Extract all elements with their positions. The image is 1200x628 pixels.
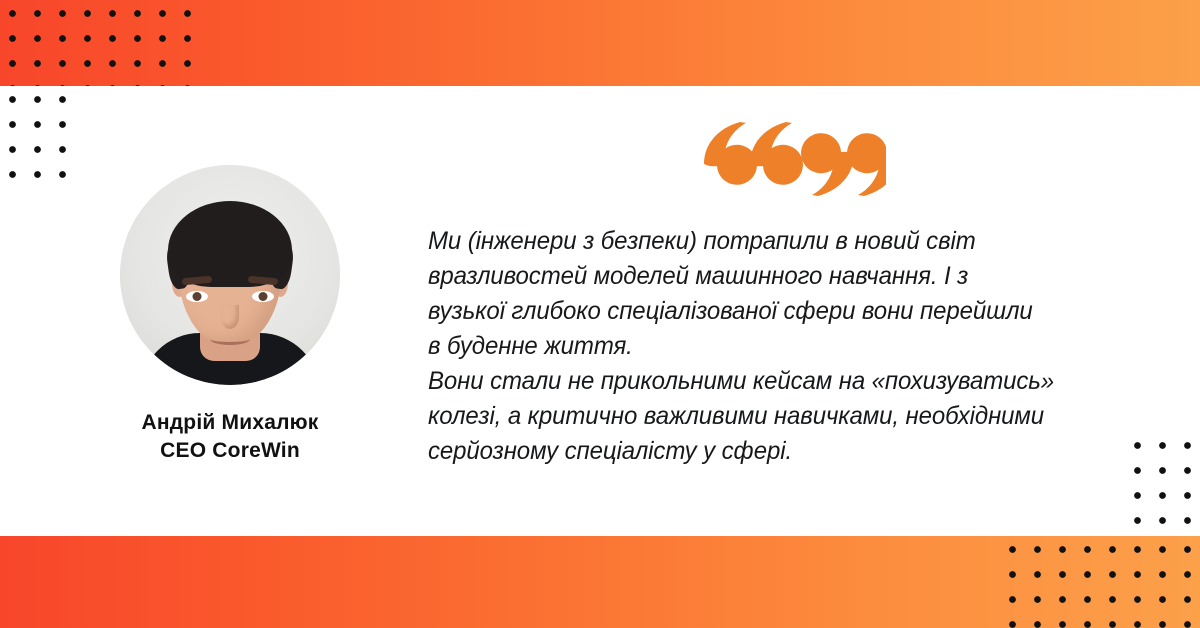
testimonial-card: Андрій Михалюк CEO CoreWin Ми (інженери …: [0, 0, 1200, 628]
dot-grid-bottom-right-lower-icon: [1009, 546, 1200, 628]
avatar-pupil-left: [193, 292, 202, 301]
person-block: Андрій Михалюк CEO CoreWin: [60, 165, 400, 466]
quote-line: серйозному спеціалісту у сфері.: [428, 434, 1100, 469]
quote-line: в буденне життя.: [428, 329, 1100, 364]
quote-mark-icon: [686, 122, 886, 196]
person-name: Андрій Михалюк: [60, 409, 400, 437]
quote-line: колезі, а критично важливими навичками, …: [428, 399, 1100, 434]
avatar: [120, 165, 340, 385]
quotation-marks: [686, 122, 1128, 196]
avatar-eye-right: [252, 291, 274, 302]
quote-line: Ми (інженери з безпеки) потрапили в нови…: [428, 224, 1100, 259]
avatar-mouth: [210, 333, 250, 345]
avatar-pupil-right: [259, 292, 268, 301]
quote-line: Вони стали не прикольними кейсам на «пох…: [428, 364, 1100, 399]
dot-grid-bottom-right-upper-icon: [1134, 442, 1200, 536]
avatar-hair: [168, 201, 292, 287]
avatar-eye-left: [186, 291, 208, 302]
quote-block: Ми (інженери з безпеки) потрапили в нови…: [428, 122, 1128, 469]
quote-line: вузької глибоко спеціалізованої сфери во…: [428, 294, 1100, 329]
person-role: CEO CoreWin: [60, 437, 400, 465]
quote-text: Ми (інженери з безпеки) потрапили в нови…: [428, 224, 1100, 469]
avatar-nose: [221, 305, 239, 329]
dot-grid-top-left-icon: [9, 10, 193, 86]
quote-line: вразливостей моделей машинного навчання.…: [428, 259, 1100, 294]
avatar-photo: [120, 165, 340, 385]
